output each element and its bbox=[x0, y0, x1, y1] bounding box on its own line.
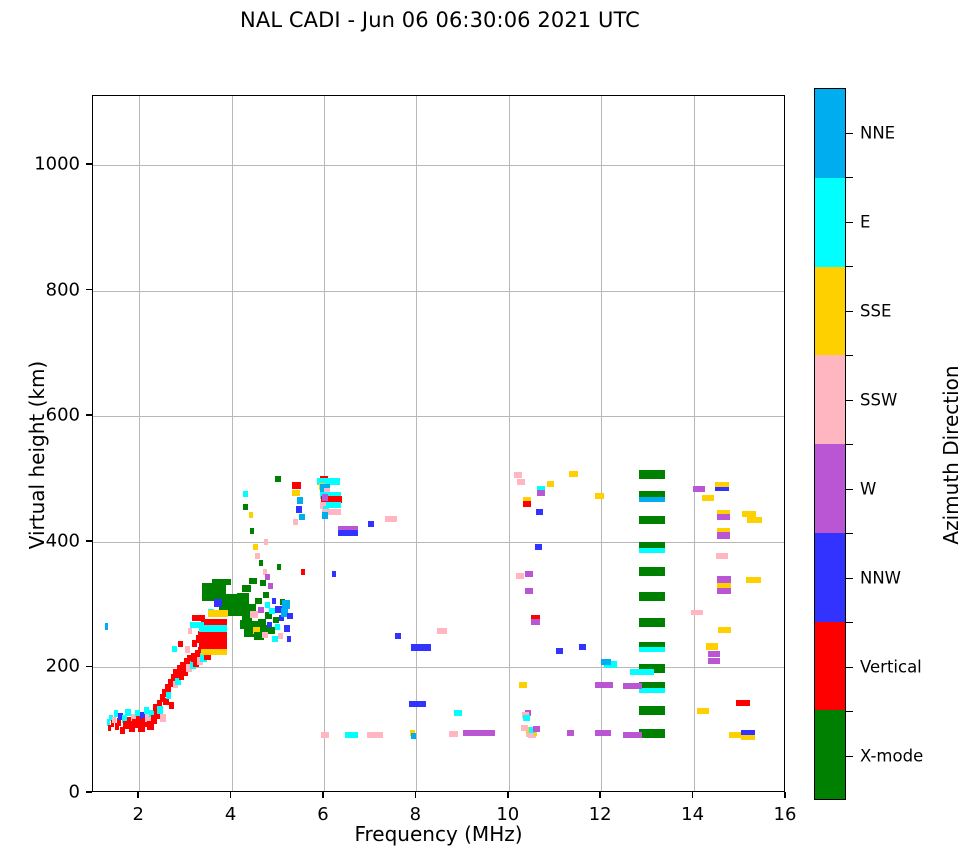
echo-mark bbox=[519, 682, 527, 688]
colorbar-label-sse: SSE bbox=[860, 301, 891, 320]
echo-mark bbox=[212, 579, 230, 585]
echo-mark bbox=[250, 611, 258, 618]
echo-mark bbox=[332, 571, 336, 577]
x-tick bbox=[322, 792, 324, 798]
echo-mark bbox=[282, 600, 289, 609]
colorbar-boundary-tick bbox=[846, 266, 853, 267]
echo-mark bbox=[595, 730, 611, 736]
echo-mark bbox=[255, 553, 260, 559]
echo-mark bbox=[708, 651, 720, 657]
echo-mark bbox=[639, 516, 665, 524]
echo-mark bbox=[192, 615, 205, 621]
echo-mark bbox=[708, 658, 720, 664]
echo-mark bbox=[595, 682, 613, 688]
echo-mark bbox=[716, 553, 728, 559]
gridline-vertical bbox=[416, 96, 417, 791]
echo-mark bbox=[531, 619, 539, 625]
colorbar-segment-sse[interactable] bbox=[815, 267, 845, 356]
echo-mark bbox=[639, 706, 665, 715]
echo-mark bbox=[717, 532, 730, 539]
azimuth-colorbar bbox=[814, 88, 846, 800]
echo-mark bbox=[639, 548, 666, 553]
echo-mark bbox=[639, 729, 665, 738]
y-tick-label: 400 bbox=[46, 530, 80, 551]
colorbar-label-vertical: Vertical bbox=[860, 657, 922, 676]
y-tick bbox=[86, 414, 92, 416]
echo-mark bbox=[449, 731, 457, 737]
echo-mark bbox=[260, 580, 266, 586]
echo-mark bbox=[248, 604, 256, 611]
echo-mark bbox=[736, 700, 750, 706]
x-tick bbox=[415, 792, 417, 798]
echo-mark bbox=[277, 564, 281, 570]
echo-mark bbox=[523, 715, 529, 721]
echo-mark bbox=[278, 633, 284, 639]
echo-mark bbox=[702, 495, 714, 501]
echo-mark bbox=[639, 688, 665, 693]
gridline-vertical bbox=[694, 96, 695, 791]
echo-mark bbox=[717, 588, 731, 594]
y-axis-title: Virtual height (km) bbox=[25, 290, 49, 620]
echo-mark bbox=[258, 607, 264, 613]
y-tick-label: 600 bbox=[46, 405, 80, 426]
echo-mark bbox=[517, 479, 524, 485]
echo-mark bbox=[293, 519, 299, 525]
gridline-vertical bbox=[232, 96, 233, 791]
y-tick-label: 200 bbox=[46, 656, 80, 677]
echo-mark bbox=[201, 619, 226, 625]
echo-mark bbox=[595, 493, 603, 499]
echo-mark bbox=[321, 732, 328, 738]
colorbar-title: Azimuth Direction bbox=[939, 290, 958, 620]
colorbar-tick bbox=[846, 311, 853, 312]
colorbar-segment-w[interactable] bbox=[815, 444, 845, 533]
colorbar-segment-e[interactable] bbox=[815, 178, 845, 267]
x-tick bbox=[599, 792, 601, 798]
x-tick bbox=[137, 792, 139, 798]
echo-mark bbox=[525, 571, 532, 577]
echo-mark bbox=[691, 610, 703, 615]
gridline-horizontal bbox=[93, 667, 784, 668]
echo-mark bbox=[275, 476, 281, 482]
echo-mark bbox=[717, 514, 730, 520]
echo-mark bbox=[569, 471, 577, 477]
colorbar-tick bbox=[846, 133, 853, 134]
echo-mark bbox=[639, 497, 665, 502]
colorbar-tick bbox=[846, 489, 853, 490]
colorbar-label-e: E bbox=[860, 212, 870, 231]
echo-mark bbox=[265, 602, 271, 608]
colorbar-tick bbox=[846, 222, 853, 223]
x-axis-title: Frequency (MHz) bbox=[92, 822, 785, 846]
echo-mark bbox=[639, 647, 665, 652]
echo-mark bbox=[579, 644, 585, 650]
echo-mark bbox=[742, 511, 756, 517]
gridline-vertical bbox=[324, 96, 325, 791]
echo-mark bbox=[537, 490, 544, 496]
echo-mark bbox=[208, 610, 228, 617]
colorbar-tick bbox=[846, 756, 853, 757]
echo-mark bbox=[514, 472, 522, 478]
echo-mark bbox=[166, 692, 171, 699]
y-tick bbox=[86, 289, 92, 291]
colorbar-boundary-tick bbox=[846, 355, 853, 356]
echo-mark bbox=[368, 521, 374, 527]
echo-mark bbox=[322, 512, 328, 519]
echo-mark bbox=[287, 613, 293, 619]
echo-mark bbox=[105, 623, 108, 630]
echo-mark bbox=[623, 732, 642, 738]
echo-mark bbox=[523, 501, 531, 507]
echo-mark bbox=[693, 486, 705, 492]
colorbar-segment-nne[interactable] bbox=[815, 89, 845, 178]
echo-mark bbox=[264, 539, 268, 545]
x-tick bbox=[784, 792, 786, 798]
echo-mark bbox=[296, 506, 302, 513]
echo-mark bbox=[525, 588, 532, 594]
echo-mark bbox=[411, 733, 416, 739]
echo-mark bbox=[630, 669, 654, 675]
echo-mark bbox=[160, 714, 166, 722]
echo-mark bbox=[292, 490, 300, 496]
gridline-horizontal bbox=[93, 416, 784, 417]
echo-mark bbox=[463, 730, 495, 736]
echo-mark bbox=[556, 648, 562, 654]
colorbar-segment-x-mode[interactable] bbox=[815, 710, 845, 799]
echo-mark bbox=[345, 732, 358, 738]
colorbar-segment-ssw[interactable] bbox=[815, 355, 845, 444]
colorbar-label-nne: NNE bbox=[860, 123, 895, 142]
echo-mark bbox=[263, 592, 269, 598]
echo-mark bbox=[243, 504, 248, 510]
echo-mark bbox=[639, 618, 665, 627]
echo-mark bbox=[292, 482, 301, 489]
colorbar-tick bbox=[846, 578, 853, 579]
colorbar-ticks: NNEESSESSWWNNWVerticalX-mode bbox=[846, 88, 847, 800]
y-tick-label: 1000 bbox=[34, 154, 80, 175]
x-tick bbox=[692, 792, 694, 798]
echo-mark bbox=[242, 585, 251, 592]
echo-mark bbox=[169, 702, 174, 709]
x-tick bbox=[230, 792, 232, 798]
echo-mark bbox=[437, 628, 447, 634]
gridline-horizontal bbox=[93, 291, 784, 292]
colorbar-segment-vertical[interactable] bbox=[815, 622, 845, 711]
echo-mark bbox=[287, 636, 292, 642]
echo-mark bbox=[255, 598, 261, 604]
echo-mark bbox=[253, 544, 259, 550]
colorbar-tick bbox=[846, 667, 853, 668]
colorbar-segment-nnw[interactable] bbox=[815, 533, 845, 622]
echo-mark bbox=[521, 725, 528, 731]
gridline-vertical bbox=[139, 96, 140, 791]
echo-mark bbox=[567, 730, 573, 736]
colorbar-boundary-tick bbox=[846, 533, 853, 534]
echo-mark bbox=[533, 726, 539, 732]
echo-mark bbox=[536, 509, 542, 515]
y-tick bbox=[86, 666, 92, 668]
y-tick bbox=[86, 163, 92, 165]
echo-mark bbox=[284, 625, 290, 632]
colorbar-boundary-tick bbox=[846, 177, 853, 178]
page-title: NAL CADI - Jun 06 06:30:06 2021 UTC bbox=[0, 8, 880, 32]
echo-mark bbox=[715, 482, 729, 487]
echo-mark bbox=[411, 644, 430, 651]
echo-mark bbox=[268, 627, 274, 634]
colorbar-label-x-mode: X-mode bbox=[860, 746, 923, 765]
echo-mark bbox=[172, 646, 177, 652]
echo-mark bbox=[395, 633, 401, 639]
echo-mark bbox=[301, 569, 305, 575]
echo-mark bbox=[747, 517, 763, 523]
y-tick-label: 0 bbox=[69, 782, 80, 803]
echo-mark bbox=[250, 528, 255, 534]
colorbar-boundary-tick bbox=[846, 711, 853, 712]
echo-mark bbox=[338, 530, 358, 536]
echo-mark bbox=[601, 659, 611, 665]
echo-mark bbox=[367, 732, 383, 738]
echo-mark bbox=[729, 732, 741, 738]
echo-mark bbox=[516, 573, 524, 579]
echo-mark bbox=[322, 494, 328, 501]
echo-mark bbox=[272, 598, 277, 604]
x-tick bbox=[507, 792, 509, 798]
echo-mark bbox=[639, 470, 665, 479]
echo-mark bbox=[243, 491, 247, 497]
gridline-horizontal bbox=[93, 165, 784, 166]
echo-mark bbox=[190, 622, 204, 628]
echo-mark bbox=[697, 708, 709, 714]
echo-mark bbox=[639, 592, 665, 601]
echo-mark bbox=[178, 641, 183, 647]
echo-mark bbox=[299, 514, 305, 520]
y-tick bbox=[86, 540, 92, 542]
echo-mark bbox=[214, 599, 222, 607]
echo-mark bbox=[547, 481, 554, 487]
echo-mark bbox=[297, 497, 303, 504]
y-tick-label: 800 bbox=[46, 279, 80, 300]
echo-mark bbox=[535, 544, 541, 550]
gridline-vertical bbox=[509, 96, 510, 791]
echo-mark bbox=[269, 608, 275, 614]
echo-mark bbox=[268, 583, 273, 589]
echo-mark bbox=[265, 574, 270, 580]
echo-mark bbox=[249, 512, 253, 518]
ionogram-plot bbox=[92, 95, 785, 792]
colorbar-boundary-tick bbox=[846, 444, 853, 445]
echo-mark bbox=[259, 560, 264, 566]
echo-mark bbox=[741, 735, 755, 740]
colorbar-boundary-tick bbox=[846, 622, 853, 623]
echo-mark bbox=[454, 710, 461, 716]
echo-mark bbox=[185, 646, 190, 653]
echo-mark bbox=[249, 578, 256, 584]
echo-mark bbox=[275, 624, 280, 630]
echo-mark bbox=[706, 643, 718, 650]
colorbar-tick bbox=[846, 400, 853, 401]
echo-mark bbox=[746, 577, 761, 583]
echo-mark bbox=[201, 649, 228, 655]
y-tick bbox=[86, 791, 92, 793]
echo-mark bbox=[639, 567, 665, 576]
echo-mark bbox=[718, 627, 731, 633]
echo-mark bbox=[623, 683, 642, 689]
echo-mark bbox=[237, 593, 249, 601]
echo-mark bbox=[192, 640, 198, 647]
echo-mark bbox=[409, 701, 427, 707]
colorbar-label-ssw: SSW bbox=[860, 390, 897, 409]
plot-canvas bbox=[93, 96, 784, 791]
echo-mark bbox=[385, 516, 396, 522]
colorbar-label-nnw: NNW bbox=[860, 568, 901, 587]
gridline-horizontal bbox=[93, 542, 784, 543]
colorbar-label-w: W bbox=[860, 479, 876, 498]
echo-mark bbox=[188, 628, 193, 634]
